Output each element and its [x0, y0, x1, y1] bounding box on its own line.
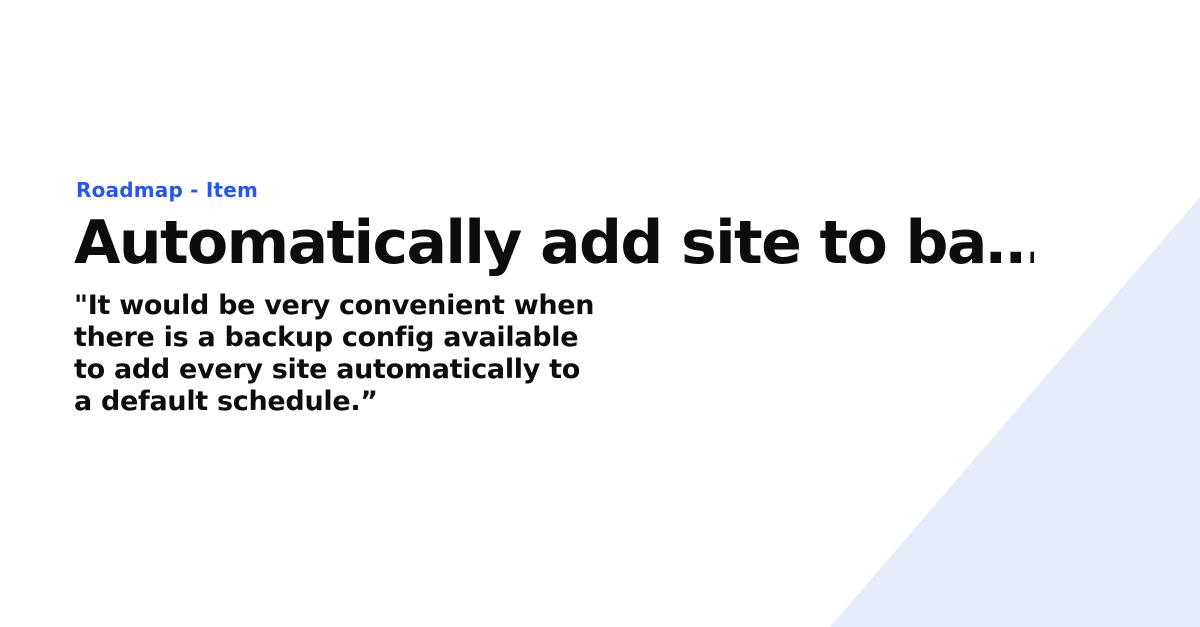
page-title: Automatically add site to ba…: [74, 212, 1034, 276]
quote-block: "It would be very convenient when there …: [74, 290, 1034, 418]
card-content: Roadmap - Item Automatically add site to…: [74, 178, 1034, 418]
quote-line: a default schedule.”: [74, 386, 1034, 418]
quote-line: there is a backup config available: [74, 322, 1034, 354]
quote-line: "It would be very convenient when: [74, 290, 1034, 322]
eyebrow-label: Roadmap - Item: [76, 178, 1034, 202]
social-share-card: Roadmap - Item Automatically add site to…: [0, 0, 1200, 627]
quote-line: to add every site automatically to: [74, 354, 1034, 386]
